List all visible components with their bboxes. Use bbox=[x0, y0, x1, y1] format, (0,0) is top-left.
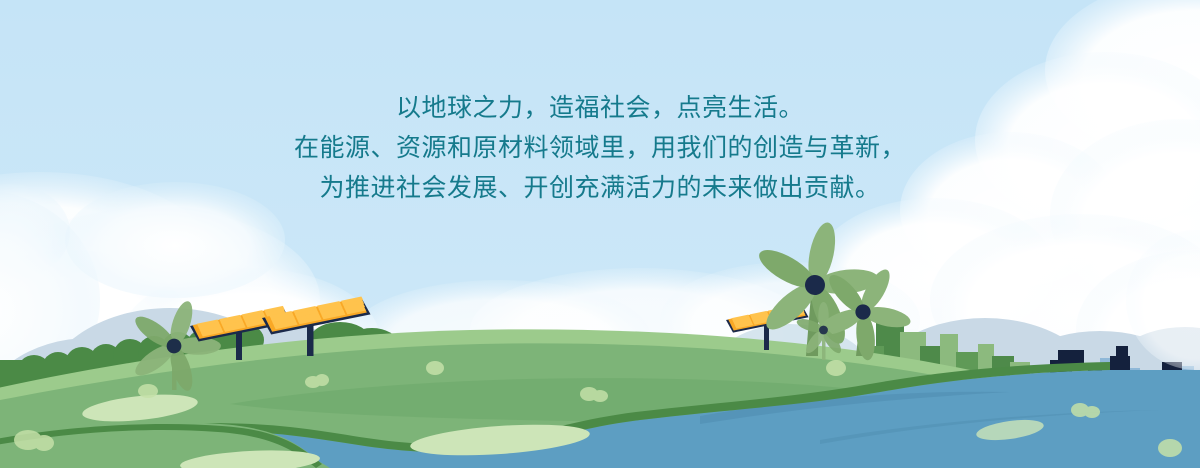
eco-energy-banner: 以地球之力，造福社会，点亮生活。 在能源、资源和原材料领域里，用我们的创造与革新… bbox=[0, 0, 1200, 468]
landscape-illustration bbox=[0, 0, 1200, 468]
